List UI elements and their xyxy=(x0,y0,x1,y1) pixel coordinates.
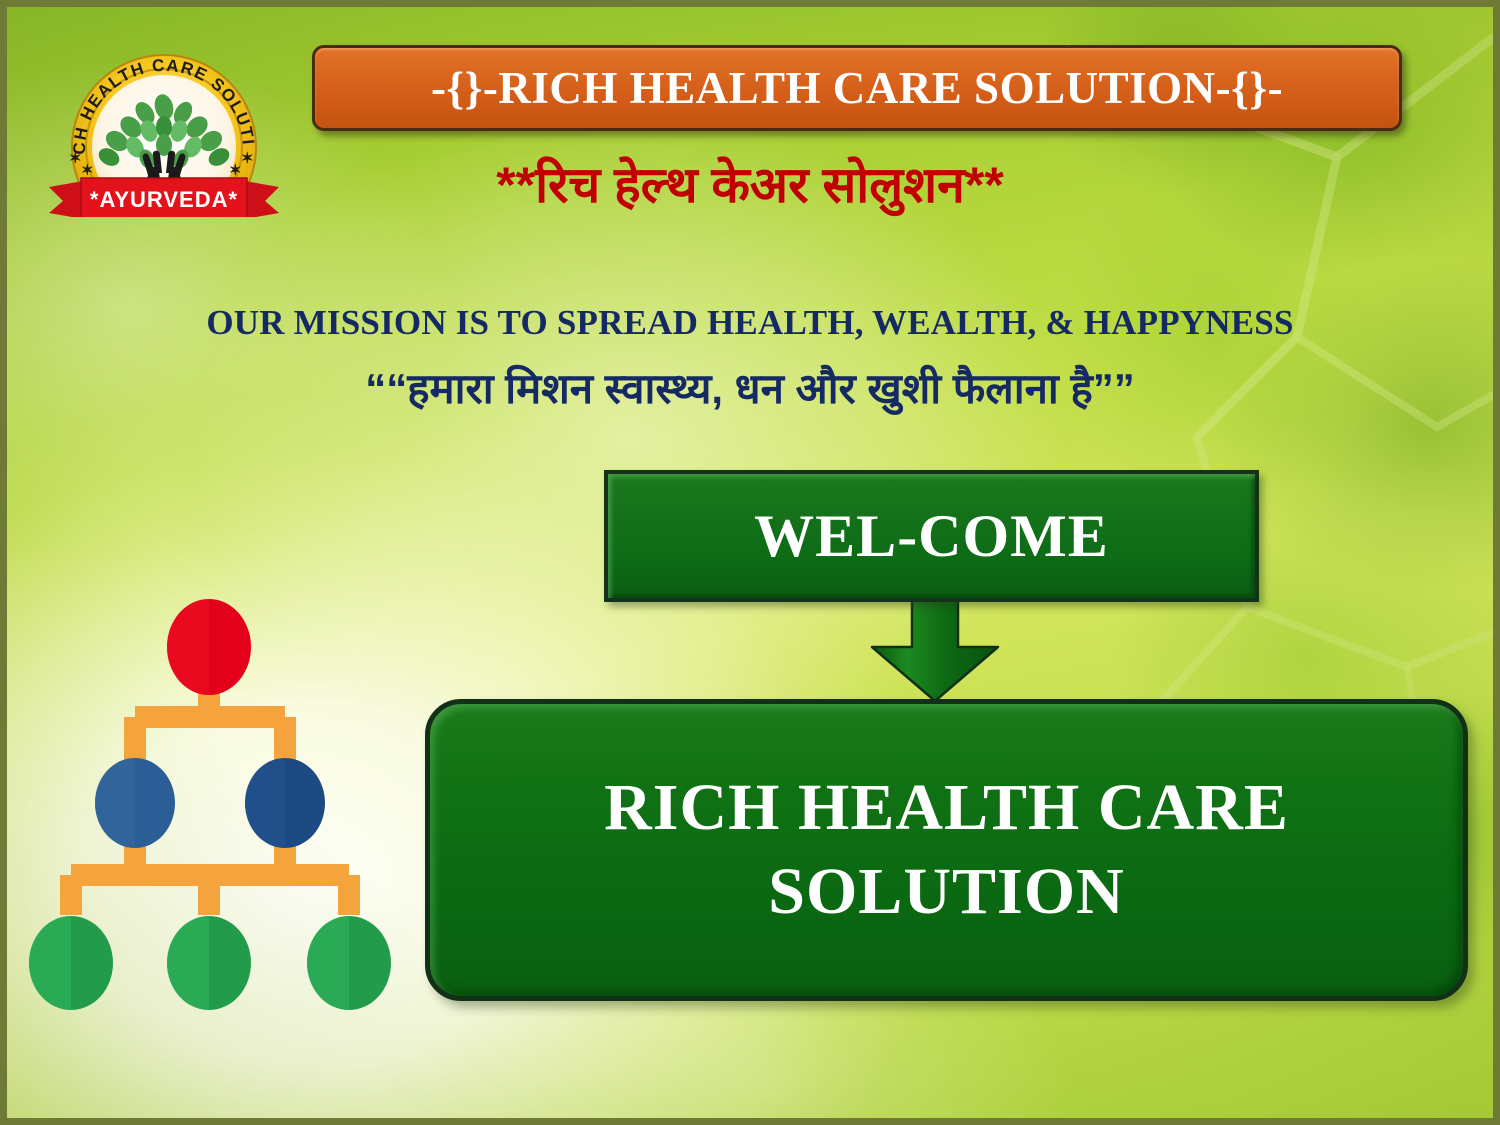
down-arrow-icon xyxy=(865,599,1005,704)
main-brand-card: RICH HEALTH CARE SOLUTION xyxy=(425,699,1468,1001)
header-title: -{}-RICH HEALTH CARE SOLUTION-{}- xyxy=(431,62,1283,114)
org-node-level3-a xyxy=(29,916,113,1010)
header-banner: -{}-RICH HEALTH CARE SOLUTION-{}- xyxy=(312,45,1402,131)
slide-root: RICH HEALTH CARE SOLUTION ✶✶ ✶✶ xyxy=(0,0,1500,1125)
main-card-line1: RICH HEALTH CARE xyxy=(604,766,1289,850)
org-node-level2-left xyxy=(95,758,175,848)
org-node-level1 xyxy=(167,599,251,695)
organization-chart-diagram xyxy=(29,585,419,1015)
welcome-label: WEL-COME xyxy=(754,502,1109,571)
welcome-box: WEL-COME xyxy=(604,470,1259,602)
mission-statement-hindi: ““हमारा मिशन स्वास्थ्य, धन और खुशी फैलान… xyxy=(7,359,1493,416)
mission-statement-english: OUR MISSION IS TO SPREAD HEALTH, WEALTH,… xyxy=(7,303,1493,343)
main-card-line2: SOLUTION xyxy=(604,850,1289,934)
org-node-level2-right xyxy=(245,758,325,848)
org-node-level3-c xyxy=(307,916,391,1010)
brand-hindi-subtitle: **रिच हेल्थ केअर सोलुशन** xyxy=(7,149,1493,217)
org-node-level3-b xyxy=(167,916,251,1010)
